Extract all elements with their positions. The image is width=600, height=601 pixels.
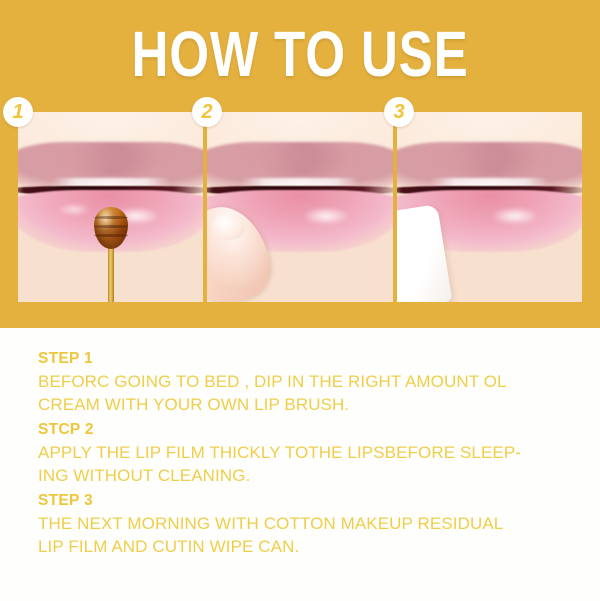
- step-entry-1: STEP 1 BEFORC GOING TO BED , DIP IN THE …: [38, 348, 578, 416]
- bulb-ridge: [94, 216, 128, 219]
- step-entry-3: STEP 3 THE NEXT MORNING WITH COTTON MAKE…: [38, 490, 578, 558]
- step-body-1: BEFORC GOING TO BED , DIP IN THE RIGHT A…: [38, 370, 578, 416]
- step-badge-1: 1: [3, 97, 33, 127]
- step-entry-2: STCP 2 APPLY THE LIP FILM THICKLY TOTHE …: [38, 419, 578, 487]
- step-badge-2: 2: [192, 97, 222, 127]
- step-body-3: THE NEXT MORNING WITH COTTON MAKEUP RESI…: [38, 512, 578, 558]
- step-body-2: APPLY THE LIP FILM THICKLY TOTHE LIPSBEF…: [38, 441, 578, 487]
- step-heading-1: STEP 1: [38, 348, 578, 370]
- lip-gloss-highlight: [59, 204, 89, 215]
- bulb-ridge: [94, 234, 128, 237]
- lip-gloss-highlight: [493, 208, 537, 224]
- step-heading-2: STCP 2: [38, 419, 578, 441]
- steps-list: STEP 1 BEFORC GOING TO BED , DIP IN THE …: [38, 348, 578, 561]
- lip-gloss-highlight: [304, 208, 348, 224]
- step-image-3: [397, 112, 582, 302]
- step-heading-3: STEP 3: [38, 490, 578, 512]
- bulb-ridge: [94, 225, 128, 228]
- page-title: HOW TO USE: [60, 22, 540, 86]
- how-to-use-infographic: HOW TO USE: [0, 0, 600, 601]
- image-panel-strip: [18, 112, 582, 302]
- fingernail: [212, 213, 245, 241]
- step-badge-3: 3: [384, 97, 414, 127]
- step-image-2: [207, 112, 392, 302]
- step-image-1: [18, 112, 203, 302]
- applicator-stick: [108, 240, 114, 302]
